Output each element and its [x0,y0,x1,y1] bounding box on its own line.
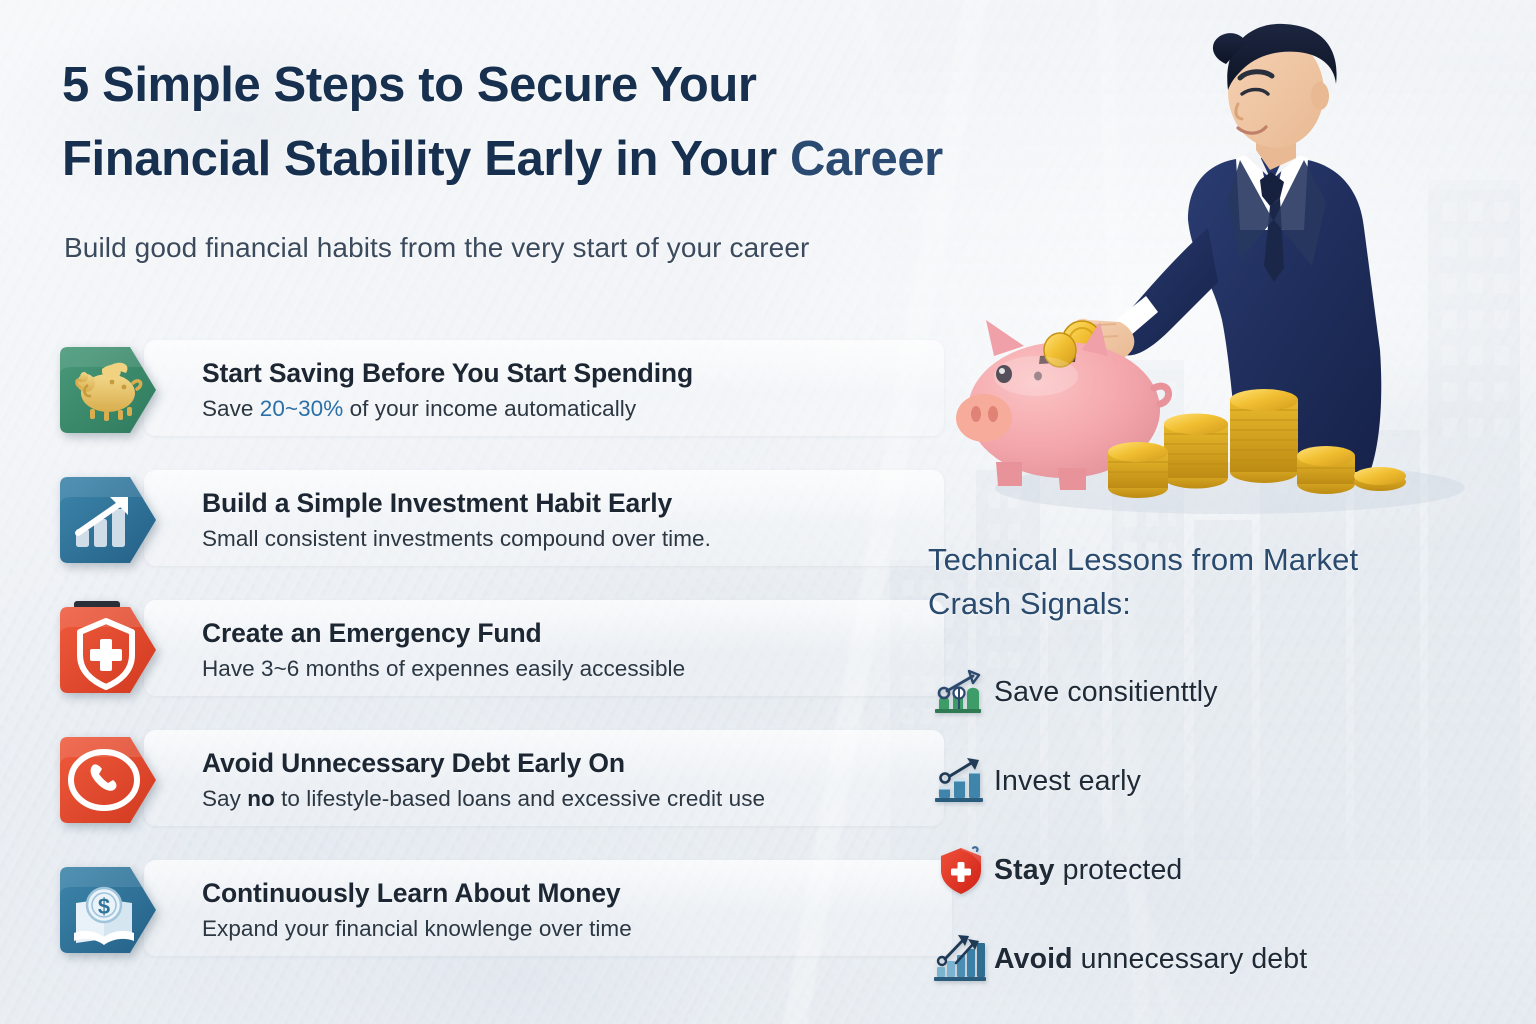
lesson-item-2[interactable]: Invest early [928,751,1508,811]
title-line-2-main: Financial Stability Early in Your [62,132,790,186]
step-title: Start Saving Before You Start Spending [202,358,693,389]
step-card-text: Avoid Unnecessary Debt Early On Say no t… [202,748,765,811]
step-card-text: Build a Simple Investment Habit Early Sm… [202,488,711,551]
growth-chart-icon [52,471,164,569]
step-title: Create an Emergency Fund [202,618,685,649]
title-line-2-accent: Career [790,132,943,186]
green-bar-arrow-icon [928,667,994,717]
page-subtitle: Build good financial habits from the ver… [64,232,809,264]
steps-list: Start Saving Before You Start Spending S… [52,336,892,986]
step-card-text: Continuously Learn About Money Expand yo… [202,878,632,941]
step-highlight: 20~30% [260,396,344,421]
lesson-label: Invest early [994,765,1141,798]
book-dollar-icon: $ [52,861,164,959]
step-desc: Small consistent investments compound ov… [202,525,711,552]
technical-lessons-panel: Technical Lessons from Market Crash Sign… [928,538,1508,1018]
title-line-2: Financial Stability Early in Your Career [62,122,1222,196]
step-emphasis: no [247,786,275,811]
red-shield-icon [928,844,994,896]
lesson-label: Avoid unnecessary debt [994,943,1307,976]
step-card-text: Start Saving Before You Start Spending S… [202,358,693,421]
step-desc: Save 20~30% of your income automatically [202,395,693,422]
step-card-5[interactable]: $ Continuously Learn About Money Expand … [52,856,892,964]
svg-text:$: $ [98,894,110,919]
step-desc: Have 3~6 months of expennes easily acces… [202,655,685,682]
page-title: 5 Simple Steps to Secure Your Financial … [62,48,1222,197]
lesson-label: Save consitienttly [994,676,1218,709]
piggy-bank-icon [52,341,164,439]
lesson-item-3[interactable]: Stay protected [928,840,1508,900]
lesson-item-4[interactable]: Avoid unnecessary debt [928,929,1508,989]
step-card-1[interactable]: Start Saving Before You Start Spending S… [52,336,892,444]
heading-line-2: Crash Signals: [928,582,1508,626]
lesson-item-1[interactable]: Save consitienttly [928,662,1508,722]
step-card-text: Create an Emergency Fund Have 3~6 months… [202,618,685,681]
infographic-poster: 5 Simple Steps to Secure Your Financial … [0,0,1536,1024]
step-card-3[interactable]: Create an Emergency Fund Have 3~6 months… [52,596,892,704]
step-card-4[interactable]: Avoid Unnecessary Debt Early On Say no t… [52,726,892,834]
step-title: Continuously Learn About Money [202,878,632,909]
step-desc: Say no to lifestyle-based loans and exce… [202,785,765,812]
heading-line-1: Technical Lessons from Market [928,538,1508,582]
technical-lessons-heading: Technical Lessons from Market Crash Sign… [928,538,1508,626]
blue-bar-double-arrow-icon [928,933,994,985]
blue-bar-arrow-icon [928,756,994,806]
step-title: Build a Simple Investment Habit Early [202,488,711,519]
step-desc: Expand your financial knowlenge over tim… [202,915,632,942]
step-title: Avoid Unnecessary Debt Early On [202,748,765,779]
no-debt-phone-icon [52,731,164,829]
step-card-2[interactable]: Build a Simple Investment Habit Early Sm… [52,466,892,574]
title-line-1: 5 Simple Steps to Secure Your [62,48,1222,122]
technical-lessons-list: Save consitienttly [928,662,1508,989]
lesson-label: Stay protected [994,854,1182,887]
shield-cross-icon [52,601,164,699]
